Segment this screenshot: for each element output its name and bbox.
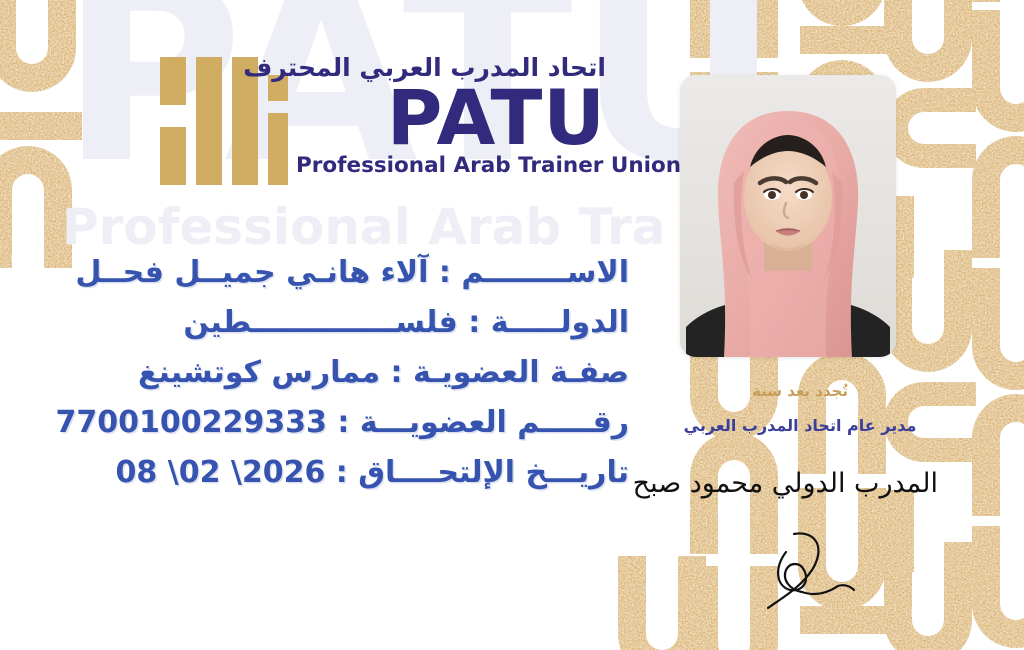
watermark-tagline: Professional Arab Tra [62, 198, 666, 256]
field-country: الدولـــــة : فلســــــــــــــطين [59, 308, 629, 338]
field-membership-number: رقـــــم العضويـــة : 7700100229333 [59, 408, 629, 438]
logo-english-name: Professional Arab Trainer Union [296, 155, 606, 177]
field-name-value: آلاء هانـي جميــل فحــل [75, 255, 428, 290]
field-country-label: الدولـــــة : [468, 305, 629, 340]
field-name: الاســــــــم : آلاء هانـي جميــل فحــل [59, 258, 629, 288]
renewal-note: تُجدد بعد سنة [700, 382, 900, 400]
patu-logo: اتحاد المدرب العربي المحترف PATU Profess… [160, 55, 610, 195]
signature-mark-icon [742, 528, 872, 618]
membership-card: PATU Professional Arab Tra اتحاد المدرب … [0, 0, 1024, 650]
field-name-label: الاســــــــم : [439, 255, 629, 290]
field-membership-type: صفـة العضويـة : ممارس كوتشينغ [59, 358, 629, 388]
field-join-date: تاريـــخ الإلتحــــاق : 08 \02 \2026 [59, 458, 629, 488]
field-join-date-label: تاريـــخ الإلتحــــاق : [336, 455, 629, 490]
director-signature-name: المدرب الدولي محمود صبح [638, 468, 938, 499]
member-details: الاســــــــم : آلاء هانـي جميــل فحــل … [59, 258, 629, 508]
field-membership-number-label: رقـــــم العضويـــة : [337, 405, 629, 440]
field-join-date-value: 08 \02 \2026 [116, 458, 326, 488]
member-photo [680, 75, 896, 357]
field-membership-type-value: ممارس كوتشينغ [138, 355, 380, 390]
logo-acronym: PATU [296, 82, 606, 154]
field-membership-type-label: صفـة العضويـة : [391, 355, 629, 390]
director-title: مدير عام اتحاد المدرب العربي [660, 416, 940, 435]
field-country-value: فلســــــــــــــطين [183, 305, 457, 340]
field-membership-number-value: 7700100229333 [56, 408, 327, 438]
